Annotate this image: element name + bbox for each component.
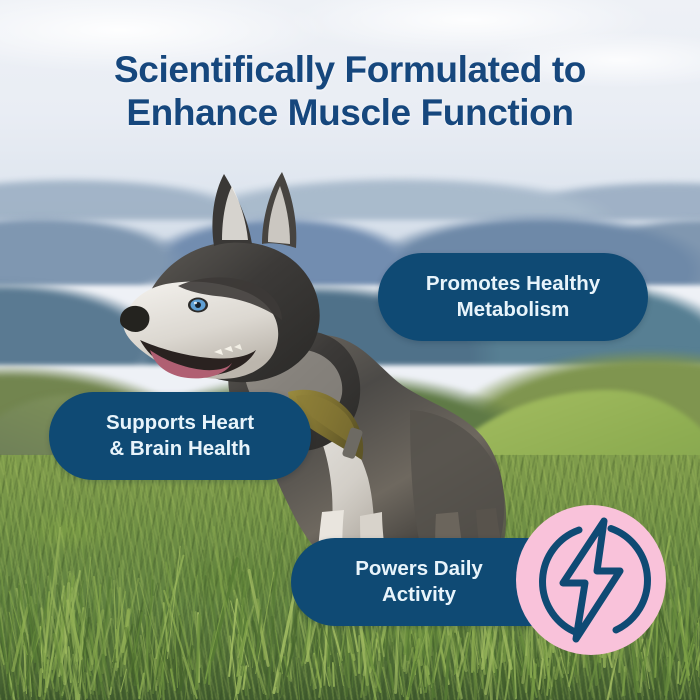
- headline: Scientifically Formulated to Enhance Mus…: [0, 48, 700, 135]
- badge-promotes-healthy-metabolism[interactable]: Promotes Healthy Metabolism: [378, 253, 648, 341]
- badge-metabolism-line-1: Promotes Healthy: [426, 271, 600, 297]
- badge-heart-line-1: Supports Heart: [106, 410, 254, 436]
- badge-heart-line-2: & Brain Health: [106, 436, 254, 462]
- headline-line-2: Enhance Muscle Function: [0, 91, 700, 134]
- badge-activity-line-1: Powers Daily: [321, 556, 517, 582]
- badge-metabolism-line-2: Metabolism: [426, 297, 600, 323]
- lightning-bolt-in-circle-icon: [516, 505, 666, 655]
- headline-line-1: Scientifically Formulated to: [0, 48, 700, 91]
- badge-supports-heart-brain-health[interactable]: Supports Heart & Brain Health: [49, 392, 311, 480]
- husky-dog-photo: [110, 160, 530, 580]
- promo-graphic: Scientifically Formulated to Enhance Mus…: [0, 0, 700, 700]
- badge-activity-line-2: Activity: [321, 582, 517, 608]
